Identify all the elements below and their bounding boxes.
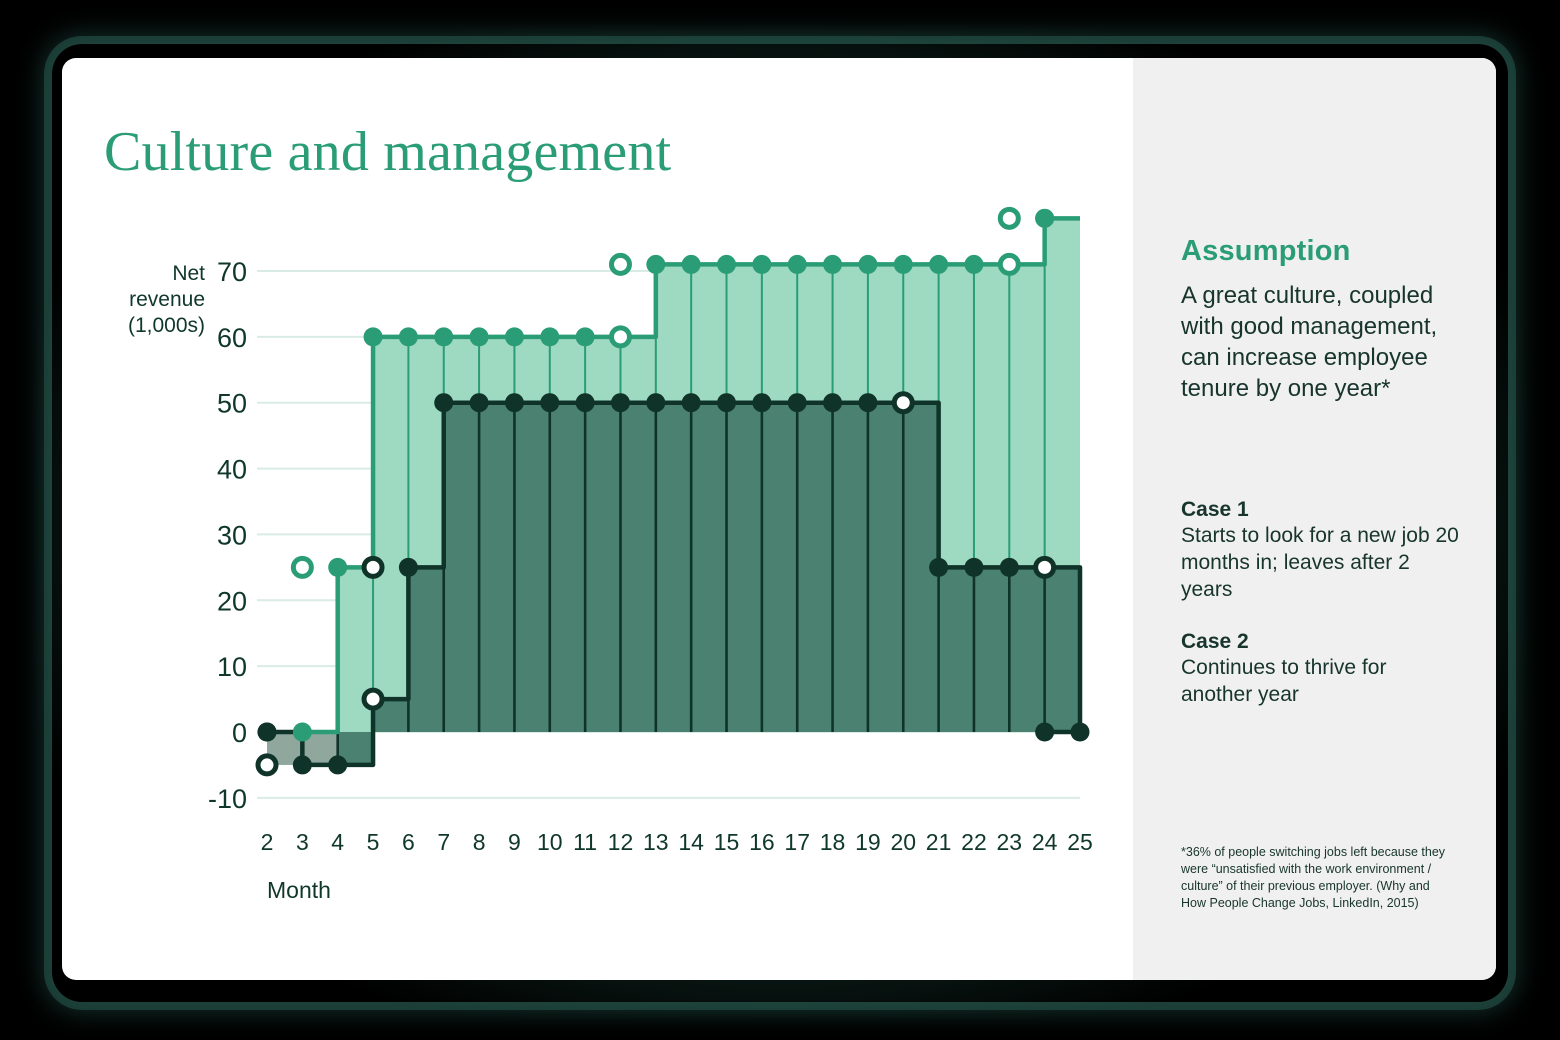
case1-step-end xyxy=(1036,558,1054,576)
case2-point xyxy=(364,327,383,346)
x-axis-tick-label: 22 xyxy=(961,829,987,855)
x-axis-tick-label: 9 xyxy=(508,829,521,855)
case1-point xyxy=(823,393,842,412)
case2-point xyxy=(717,255,736,274)
case2-point xyxy=(964,255,983,274)
case1-point xyxy=(929,558,948,577)
x-axis-tick-label: 25 xyxy=(1067,829,1093,855)
case1-point xyxy=(470,393,489,412)
case1-step-start xyxy=(258,756,276,774)
case2-point xyxy=(293,723,312,742)
y-axis-tick-label: 10 xyxy=(217,652,247,682)
case2-point xyxy=(646,255,665,274)
x-axis-tick-label: 21 xyxy=(926,829,952,855)
case2-point xyxy=(576,327,595,346)
case1-step-end xyxy=(364,690,382,708)
x-axis-tick-label: 15 xyxy=(714,829,740,855)
x-axis-tick-label: 12 xyxy=(608,829,634,855)
assumption-panel: Assumption A great culture, coupled with… xyxy=(1133,58,1496,980)
x-axis-tick-label: 7 xyxy=(437,829,450,855)
x-axis-title: Month xyxy=(267,877,331,903)
case2-point xyxy=(929,255,948,274)
y-axis-tick-label: 20 xyxy=(217,586,247,616)
case2-point xyxy=(328,558,347,577)
case1-point xyxy=(788,393,807,412)
case2-point xyxy=(505,327,524,346)
case2-point xyxy=(858,255,877,274)
case1-point xyxy=(717,393,736,412)
case2-step-start xyxy=(1000,209,1018,227)
footnote-text: *36% of people switching jobs left becau… xyxy=(1181,844,1456,912)
case2-point xyxy=(1035,209,1054,228)
x-axis-tick-label: 18 xyxy=(820,829,846,855)
x-axis-tick-label: 20 xyxy=(890,829,916,855)
case-2-text: Continues to thrive for another year xyxy=(1181,654,1459,708)
case1-point xyxy=(576,393,595,412)
slide-card: Culture and management 706050403020100-1… xyxy=(62,58,1496,980)
case1-point xyxy=(434,393,453,412)
chart-panel: Culture and management 706050403020100-1… xyxy=(62,58,1133,980)
net-revenue-step-chart: 706050403020100-10Netrevenue(1,000s)2345… xyxy=(62,58,1133,980)
case1-point xyxy=(293,755,312,774)
y-axis-title-line: (1,000s) xyxy=(128,314,205,337)
y-axis-tick-label: 70 xyxy=(217,257,247,287)
assumption-text: A great culture, coupled with good manag… xyxy=(1181,280,1451,404)
case1-point xyxy=(964,558,983,577)
y-axis-title-line: Net xyxy=(172,262,205,285)
screenshot-root: Culture and management 706050403020100-1… xyxy=(0,0,1560,1040)
x-axis-tick-label: 2 xyxy=(261,829,274,855)
case2-step-end xyxy=(611,328,629,346)
x-axis-tick-label: 19 xyxy=(855,829,881,855)
y-axis-tick-label: 0 xyxy=(232,718,247,748)
x-axis-tick-label: 5 xyxy=(367,829,380,855)
case2-point xyxy=(823,255,842,274)
x-axis-tick-label: 10 xyxy=(537,829,563,855)
case2-point xyxy=(788,255,807,274)
case2-step-end xyxy=(1000,255,1018,273)
x-axis-tick-label: 13 xyxy=(643,829,669,855)
case2-point xyxy=(682,255,701,274)
case1-point xyxy=(328,755,347,774)
y-axis-tick-label: 30 xyxy=(217,520,247,550)
x-axis-tick-label: 11 xyxy=(573,829,597,855)
case2-point xyxy=(894,255,913,274)
x-axis-tick-label: 16 xyxy=(749,829,775,855)
y-axis-tick-label: 40 xyxy=(217,455,247,485)
case1-step-end xyxy=(894,394,912,412)
case-1-heading: Case 1 xyxy=(1181,498,1249,522)
x-axis-tick-label: 23 xyxy=(997,829,1023,855)
case2-step-start xyxy=(611,255,629,273)
case2-point xyxy=(540,327,559,346)
x-axis-tick-label: 6 xyxy=(402,829,415,855)
case2-point xyxy=(470,327,489,346)
assumption-heading: Assumption xyxy=(1181,235,1351,268)
case1-point xyxy=(646,393,665,412)
case1-point xyxy=(1035,723,1054,742)
case1-point xyxy=(611,393,630,412)
case-1-text: Starts to look for a new job 20 months i… xyxy=(1181,522,1459,603)
case2-point xyxy=(752,255,771,274)
x-axis-tick-label: 3 xyxy=(296,829,309,855)
y-axis-tick-label: 60 xyxy=(217,323,247,353)
x-axis-tick-label: 17 xyxy=(784,829,810,855)
y-axis-title-line: revenue xyxy=(129,288,205,311)
x-axis-tick-label: 8 xyxy=(473,829,486,855)
y-axis-tick-label: -10 xyxy=(208,784,247,814)
case2-step-start xyxy=(293,558,311,576)
case1-point xyxy=(258,723,277,742)
case1-point xyxy=(858,393,877,412)
case1-point xyxy=(540,393,559,412)
case1-step-start xyxy=(364,558,382,576)
case1-point xyxy=(682,393,701,412)
case-2-heading: Case 2 xyxy=(1181,630,1249,654)
case1-point xyxy=(399,558,418,577)
x-axis-tick-label: 24 xyxy=(1032,829,1058,855)
x-axis-tick-label: 14 xyxy=(678,829,704,855)
case1-point xyxy=(1071,723,1090,742)
case1-point xyxy=(505,393,524,412)
case2-point xyxy=(399,327,418,346)
case1-point xyxy=(1000,558,1019,577)
y-axis-tick-label: 50 xyxy=(217,389,247,419)
case2-point xyxy=(434,327,453,346)
x-axis-tick-label: 4 xyxy=(331,829,344,855)
chart-area: 706050403020100-10Netrevenue(1,000s)2345… xyxy=(62,58,1133,980)
case1-point xyxy=(752,393,771,412)
